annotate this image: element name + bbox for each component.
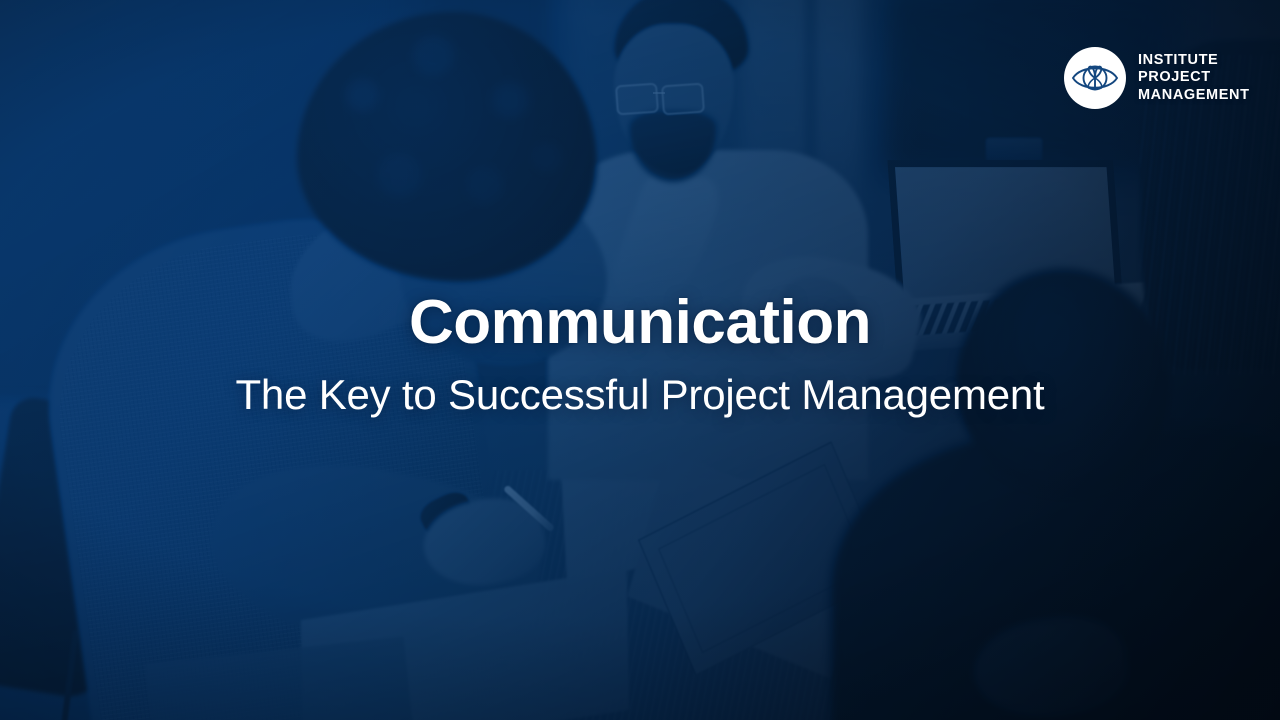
logo-line-management: MANAGEMENT: [1138, 87, 1250, 104]
logo-line-project: PROJECT: [1138, 69, 1250, 86]
logo-badge: [1064, 47, 1126, 109]
title-block: Communication The Key to Successful Proj…: [0, 292, 1280, 416]
slide-subheadline: The Key to Successful Project Management: [0, 374, 1280, 416]
brand-logo: INSTITUTE PROJECT MANAGEMENT: [1064, 47, 1250, 109]
eye-with-y-monogram-icon: [1070, 53, 1120, 103]
video-slide: Communication The Key to Successful Proj…: [0, 0, 1280, 720]
slide-headline: Communication: [0, 292, 1280, 354]
logo-line-institute: INSTITUTE: [1138, 52, 1250, 69]
logo-wordmark: INSTITUTE PROJECT MANAGEMENT: [1138, 52, 1250, 103]
